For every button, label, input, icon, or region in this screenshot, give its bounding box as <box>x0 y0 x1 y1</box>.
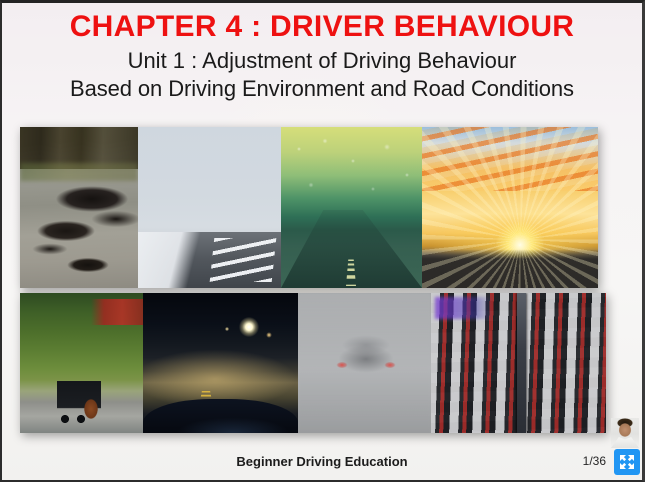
photo-row-bottom <box>20 293 610 433</box>
page-title: CHAPTER 4 : DRIVER BEHAVIOUR <box>2 7 642 47</box>
slide-footer: Beginner Driving Education 1/36 <box>2 436 642 480</box>
presenter-avatar[interactable] <box>611 418 639 448</box>
photo-collage <box>20 127 610 433</box>
slide-canvas[interactable]: CHAPTER 4 : DRIVER BEHAVIOUR Unit 1 : Ad… <box>2 3 642 480</box>
photo-night-driving-headlights <box>143 293 298 433</box>
photo-night-traffic-congestion <box>431 293 606 433</box>
photo-row-top <box>20 127 610 288</box>
slide-subtitle-line-2: Based on Driving Environment and Road Co… <box>2 75 642 103</box>
photo-horse-drawn-buggy-rural-road <box>20 293 143 433</box>
slide-subtitle-line-1: Unit 1 : Adjustment of Driving Behaviour <box>2 47 642 75</box>
fullscreen-button[interactable] <box>614 449 640 475</box>
photo-damaged-road-potholes <box>20 127 138 288</box>
footer-course-title: Beginner Driving Education <box>2 454 642 469</box>
photo-snow-whiteout-highway <box>138 127 281 288</box>
fullscreen-expand-icon <box>619 454 635 470</box>
photo-sunrise-sun-glare-road <box>422 127 598 288</box>
photo-dense-fog-tail-lights <box>298 293 431 433</box>
slide-title-block: CHAPTER 4 : DRIVER BEHAVIOUR Unit 1 : Ad… <box>2 7 642 103</box>
slide-viewer[interactable]: CHAPTER 4 : DRIVER BEHAVIOUR Unit 1 : Ad… <box>0 0 645 482</box>
page-indicator: 1/36 <box>583 454 606 468</box>
photo-rain-on-windshield-highway <box>281 127 422 288</box>
